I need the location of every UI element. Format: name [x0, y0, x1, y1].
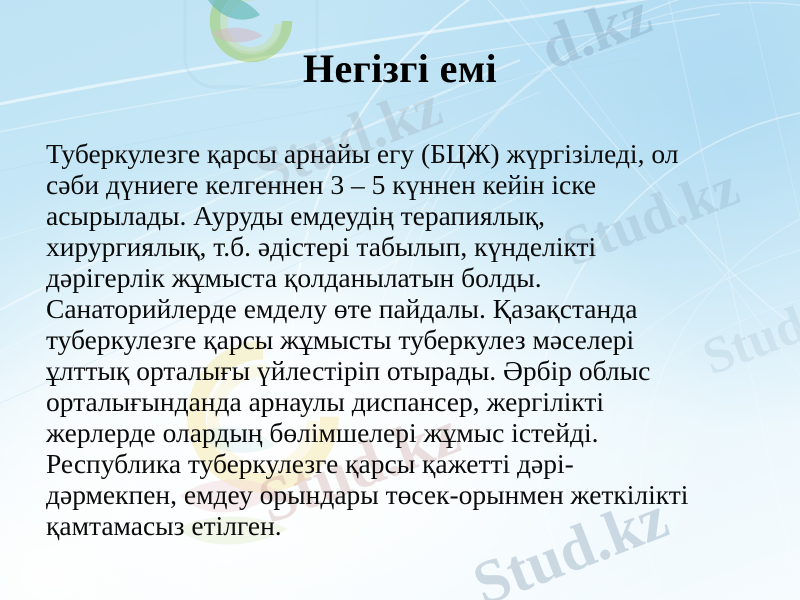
body-line: орталығынданда арнаулы диспансер, жергіл… [46, 386, 762, 417]
body-line: ұлттық орталығы үйлестіріп отырады. Әрбі… [46, 355, 762, 386]
body-line: дәрмекпен, емдеу орындары төсек-орынмен … [46, 479, 762, 510]
body-line: Республика туберкулезге қарсы қажетті дә… [46, 448, 762, 479]
slide-body-text: Туберкулезге қарсы арнайы егу (БЦЖ) жүрг… [46, 138, 762, 541]
body-line: жерлерде олардың бөлімшелері жұмыс істей… [46, 417, 762, 448]
body-line: Санаторийлерде емделу өте пайдалы. Қазақ… [46, 293, 762, 324]
slide-title: Негізгі емі [0, 48, 800, 90]
body-line: сәби дүниеге келгеннен 3 – 5 күннен кейі… [46, 169, 762, 200]
body-line: туберкулезге қарсы жұмысты туберкулез мә… [46, 324, 762, 355]
body-line: дәрігерлік жұмыста қолданылатын болды. [46, 262, 762, 293]
body-line: Туберкулезге қарсы арнайы егу (БЦЖ) жүрг… [46, 138, 762, 169]
body-line: хирургиялық, т.б. әдістері табылып, күнд… [46, 231, 762, 262]
presentation-slide: d.kz Stud.kz Stud.kz Stud.kz Stud.kz Stu… [0, 0, 800, 600]
body-line: қамтамасыз етілген. [46, 510, 762, 541]
body-line: асырылады. Ауруды емдеудің терапиялық, [46, 200, 762, 231]
